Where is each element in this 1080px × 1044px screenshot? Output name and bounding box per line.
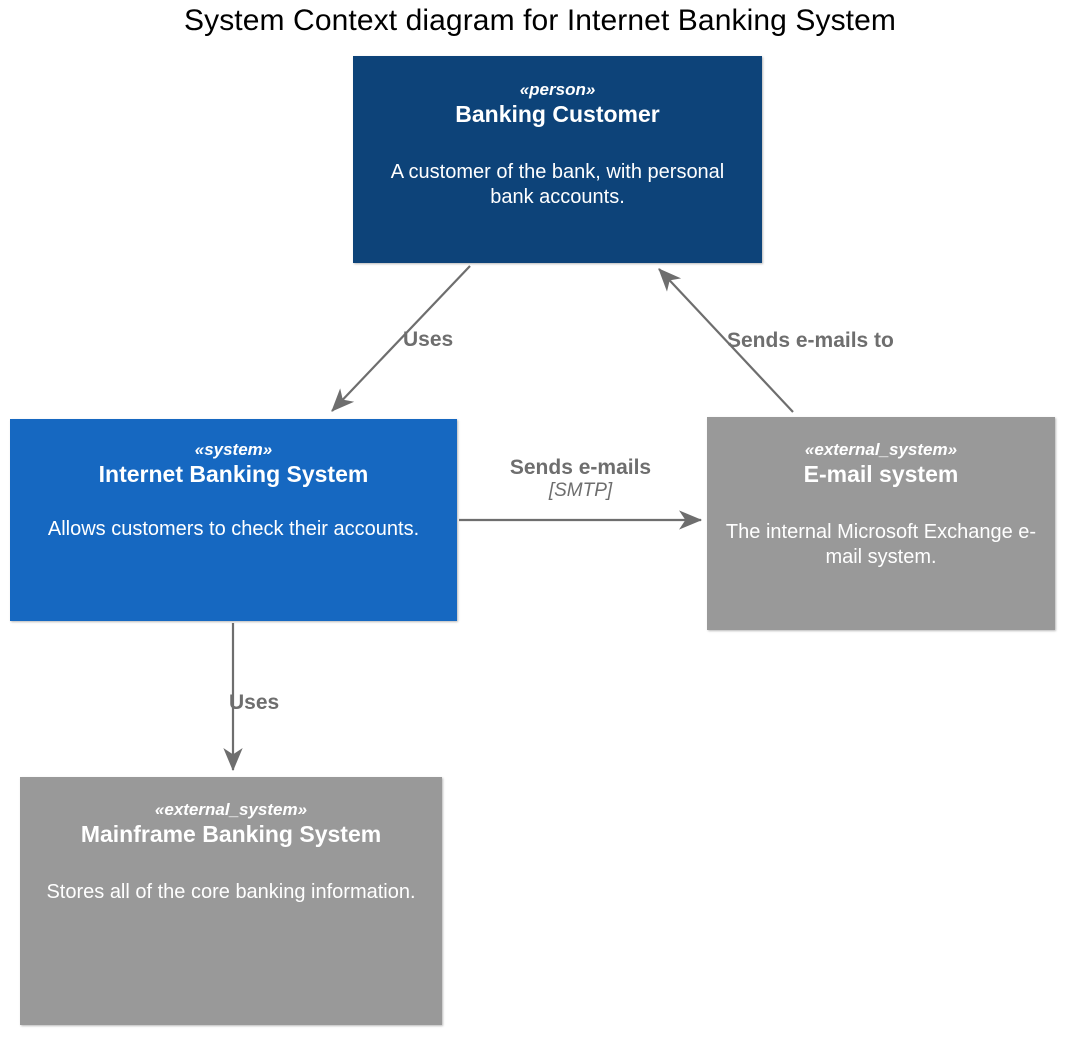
node-stereotype: «external_system»: [155, 800, 307, 820]
edge-label-technology: [SMTP]: [479, 480, 682, 503]
page-title: System Context diagram for Internet Bank…: [0, 4, 1080, 38]
edge-label-sends-emails-to: Sends e-mails to: [727, 328, 894, 353]
node-internet-banking-system[interactable]: «system» Internet Banking System Allows …: [10, 419, 457, 621]
node-title: Mainframe Banking System: [73, 821, 389, 848]
edge-label-sends-emails-smtp: Sends e-mails [SMTP]: [479, 455, 682, 503]
node-description: Stores all of the core banking informati…: [32, 880, 429, 906]
node-banking-customer[interactable]: «person» Banking Customer A customer of …: [353, 56, 762, 263]
edge-label-text: Sends e-mails: [479, 455, 682, 480]
node-description: The internal Microsoft Exchange e-mail s…: [708, 520, 1054, 571]
node-title: Internet Banking System: [91, 461, 377, 488]
node-description: Allows customers to check their accounts…: [34, 517, 433, 543]
diagram-canvas: System Context diagram for Internet Bank…: [0, 0, 1080, 1044]
node-stereotype: «external_system»: [805, 440, 957, 460]
node-stereotype: «person»: [520, 80, 596, 100]
node-title: Banking Customer: [447, 101, 667, 128]
node-stereotype: «system»: [195, 440, 273, 460]
edge-label-text: Uses: [403, 327, 453, 352]
node-title: E-mail system: [796, 461, 967, 488]
edge-label-uses-bottom: Uses: [229, 690, 279, 715]
edge-label-text: Uses: [229, 690, 279, 715]
node-description: A customer of the bank, with personal ba…: [354, 160, 761, 211]
node-email-system[interactable]: «external_system» E-mail system The inte…: [707, 417, 1055, 630]
edge-label-text: Sends e-mails to: [727, 328, 894, 353]
edge-label-uses-top: Uses: [403, 327, 453, 352]
node-mainframe-banking-system[interactable]: «external_system» Mainframe Banking Syst…: [20, 777, 442, 1025]
